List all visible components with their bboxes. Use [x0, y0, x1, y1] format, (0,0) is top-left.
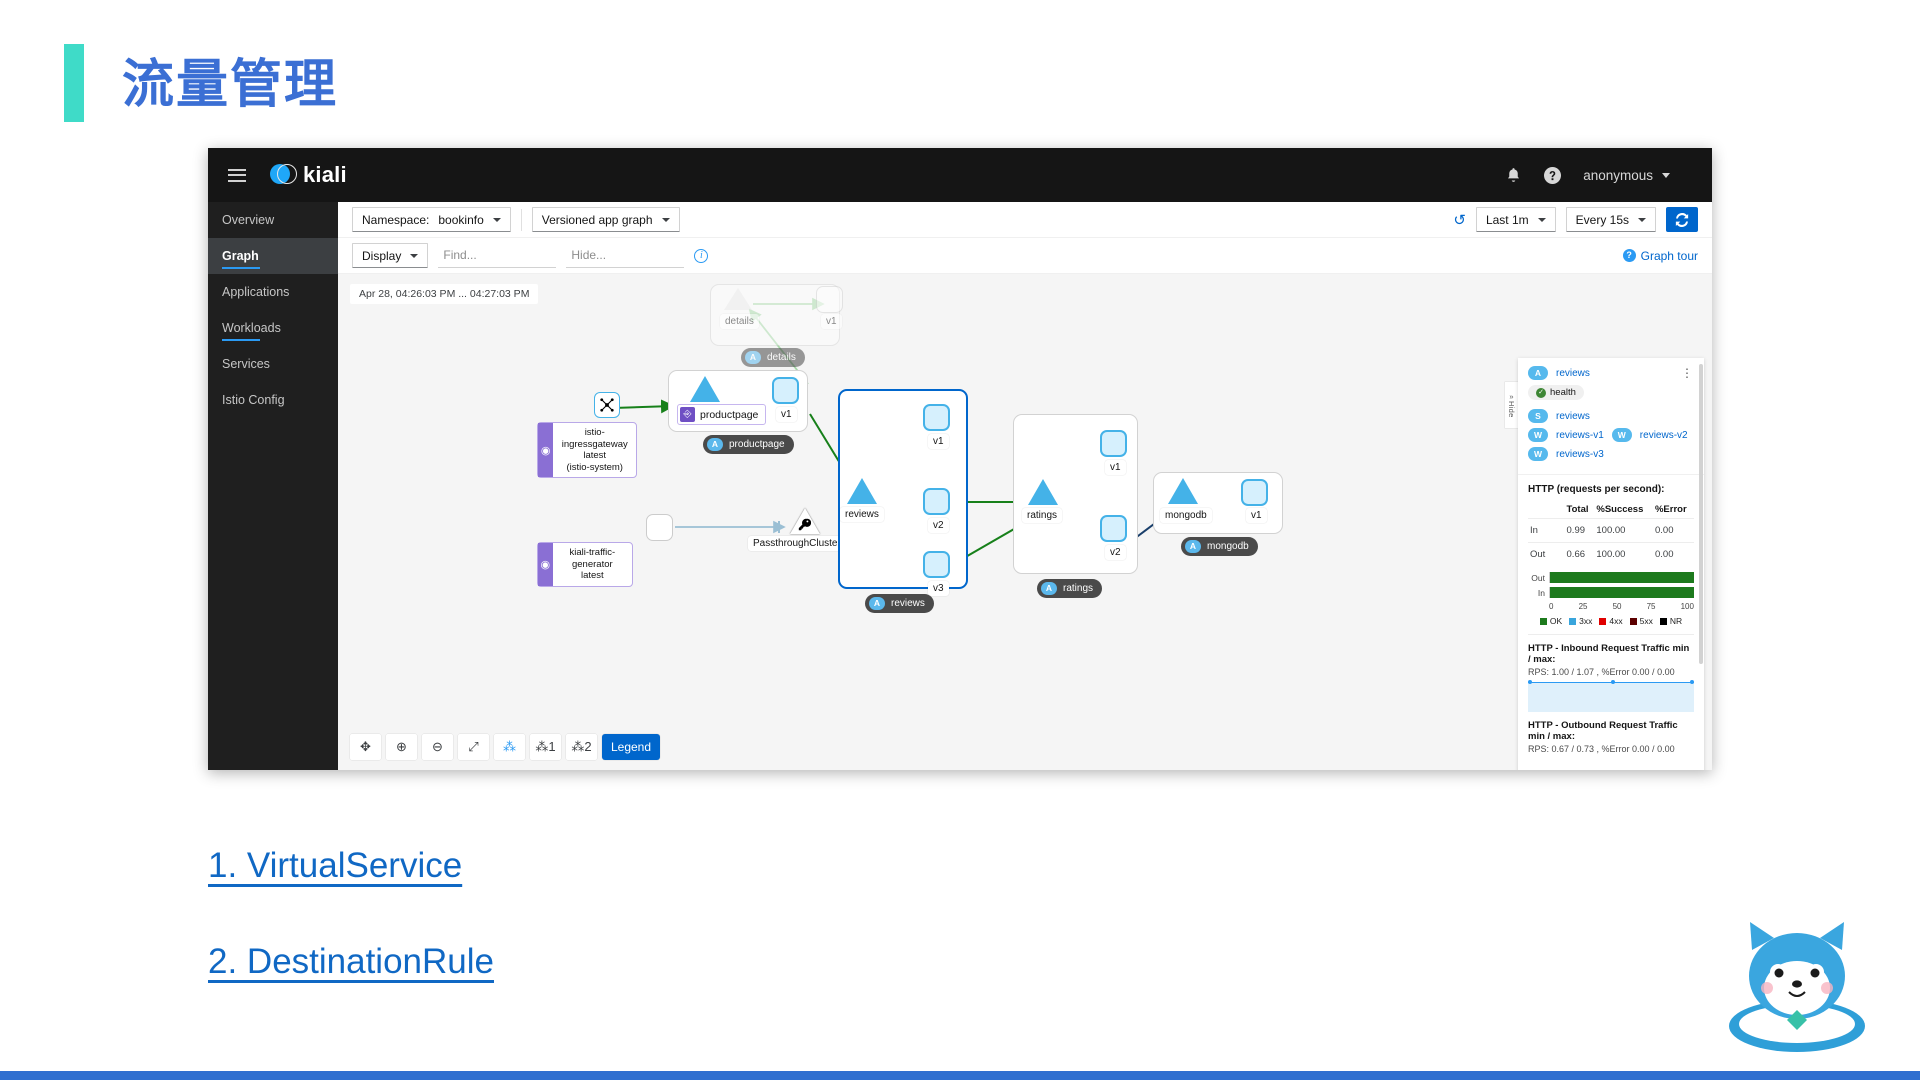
sidebar-label: Workloads [222, 321, 281, 335]
graph-bottom-toolbar: ✥ ⊕ ⊖ ⤢ ⁂ ⁂1 ⁂2 Legend [350, 734, 660, 760]
graph-display-toolbar: Display i ? Graph tour [338, 238, 1712, 274]
health-badge: ✓ health [1528, 385, 1584, 400]
bar-row-out: Out [1528, 572, 1694, 583]
graph-type-value: Versioned app graph [542, 213, 653, 227]
xtick: 50 [1613, 602, 1622, 611]
workload-badge: W [1612, 428, 1632, 442]
info-icon[interactable]: i [694, 249, 708, 263]
app-badge-name: reviews [891, 598, 925, 609]
app-badge-name: mongodb [1207, 541, 1249, 552]
content-area: Namespace: bookinfo Versioned app graph … [338, 202, 1712, 770]
cell-success: 100.00 [1594, 543, 1653, 567]
bar-row-in: In [1528, 587, 1694, 598]
workload-badge: W [1528, 447, 1548, 461]
hover-underline [222, 339, 260, 342]
fit-screen-icon[interactable]: ⤢ [458, 734, 489, 760]
side-panel-collapse-toggle[interactable]: » Hide [1505, 382, 1518, 428]
app-badge-letter: A [869, 597, 885, 610]
node-card-body: istio-ingressgateway latest (istio-syste… [553, 423, 636, 477]
footer-bar [0, 1071, 1920, 1080]
display-menu-button[interactable]: Display [352, 243, 428, 268]
graph-label-productpage-v1: v1 [776, 407, 797, 422]
chart-legend: OK 3xx 4xx 5xx [1528, 616, 1694, 626]
legend-item-5xx: 5xx [1630, 616, 1653, 626]
layout-default-icon[interactable]: ⁂ [494, 734, 525, 760]
help-circle-icon[interactable] [1544, 167, 1561, 184]
app-badge-letter: A [745, 351, 761, 364]
sidebar: Overview Graph Applications Workloads Se… [208, 202, 338, 770]
app-badge-letter: A [1185, 540, 1201, 553]
table-header-row: Total %Success %Error [1528, 501, 1694, 519]
link-destinationrule[interactable]: 2. DestinationRule [208, 942, 494, 982]
legend-item-ok: OK [1540, 616, 1562, 626]
graph-node-traffic-generator-box[interactable] [646, 514, 673, 541]
graph-node-ratings-service[interactable] [1028, 479, 1058, 505]
history-icon[interactable]: ↺ [1453, 211, 1466, 229]
chevron-down-icon [1662, 173, 1670, 178]
graph-label-ratings-service: ratings [1022, 508, 1062, 523]
graph-label-ratings-v1: v1 [1105, 460, 1126, 475]
chevron-right-icon: » [1509, 392, 1513, 401]
namespace-value: bookinfo [438, 213, 483, 227]
chevron-down-icon [662, 218, 670, 222]
node-line-3: (istio-system) [561, 462, 628, 474]
node-line-1: kiali-traffic-generator [561, 547, 624, 570]
bell-icon[interactable] [1505, 167, 1522, 184]
graph-node-mongodb-v1[interactable] [1241, 479, 1268, 506]
node-strip-icon: ◉ [538, 543, 553, 586]
masthead-actions: anonymous [1505, 167, 1712, 184]
status-bar-chart: Out In [1528, 572, 1694, 626]
graph-label-productpage-service: ⎆ productpage [677, 404, 766, 425]
sidebar-label: Graph [222, 249, 259, 263]
bar-chart-axis: 0 25 50 75 100 [1549, 602, 1694, 611]
side-panel: A reviews ⋮ ✓ health S reviews [1518, 358, 1704, 770]
xtick: 75 [1647, 602, 1656, 611]
kiali-logo[interactable]: kiali [270, 162, 347, 188]
node-line-2: latest [561, 570, 624, 582]
graph-label-passthroughcluster: PassthroughCluster [748, 536, 846, 551]
node-line-1: istio-ingressgateway [561, 427, 628, 450]
graph-node-reviews-v1[interactable] [923, 404, 950, 431]
http-table-title: HTTP (requests per second): [1528, 484, 1694, 495]
sidebar-label: Istio Config [222, 393, 285, 407]
kebab-menu-icon[interactable]: ⋮ [1681, 366, 1694, 380]
workload-link[interactable]: reviews-v3 [1556, 449, 1604, 460]
hide-input[interactable] [566, 243, 684, 268]
layout-1-icon[interactable]: ⁂1 [530, 734, 561, 760]
graph-node-productpage-v1[interactable] [772, 377, 799, 404]
title-accent-bar [64, 44, 84, 122]
workload-badge: W [1528, 428, 1548, 442]
cell-dir: Out [1528, 543, 1565, 567]
graph-canvas[interactable]: Apr 28, 04:26:03 PM ... 04:27:03 PM [338, 274, 1712, 770]
graph-label-mongodb-v1: v1 [1246, 508, 1267, 523]
kiali-mark-icon [270, 162, 296, 188]
graph-label-details-service: details [720, 314, 759, 329]
graph-node-ratings-v2[interactable] [1100, 515, 1127, 542]
sidebar-item-workloads[interactable]: Workloads [208, 310, 338, 346]
table-row: In 0.99 100.00 0.00 [1528, 519, 1694, 543]
cell-success: 100.00 [1594, 519, 1653, 543]
sidebar-label: Applications [222, 285, 289, 299]
graph-node-reviews-service[interactable] [847, 478, 877, 504]
layout-2-icon[interactable]: ⁂2 [566, 734, 597, 760]
cell-total: 0.66 [1565, 543, 1595, 567]
kiali-screenshot: kiali anonymous Overview Grap [208, 148, 1712, 770]
refresh-icon [1675, 213, 1689, 227]
sidebar-item-graph[interactable]: Graph [208, 238, 338, 274]
legend-item-nr: NR [1660, 616, 1682, 626]
side-panel-scrollbar[interactable] [1699, 364, 1703, 664]
chevron-down-icon [493, 218, 501, 222]
inbound-sparkline [1528, 682, 1694, 712]
outbound-traffic-value: RPS: 0.67 / 0.73 , %Error 0.00 / 0.00 [1528, 744, 1694, 754]
legend-item-3xx: 3xx [1569, 616, 1592, 626]
page-title: 流量管理 [122, 50, 338, 120]
active-underline [222, 267, 260, 270]
graph-node-details-v1[interactable] [816, 286, 843, 313]
hamburger-icon[interactable] [228, 165, 246, 185]
refresh-interval-selector[interactable]: Every 15s [1566, 207, 1656, 232]
chevron-down-icon [1638, 218, 1646, 222]
bar-label: Out [1528, 573, 1545, 583]
summary-workload-row-2: W reviews-v3 [1528, 447, 1694, 461]
service-badge: S [1528, 409, 1548, 423]
key-icon [798, 518, 811, 531]
graph-badge-reviews-app: A reviews [865, 594, 934, 613]
cell-error: 0.00 [1653, 543, 1694, 567]
chevron-down-icon [1538, 218, 1546, 222]
user-name: anonymous [1583, 168, 1653, 183]
bar-track [1549, 572, 1694, 583]
workload-link[interactable]: reviews-v1 [1556, 430, 1604, 441]
graph-label-reviews-service: reviews [840, 507, 884, 522]
app-badge-letter: A [1041, 582, 1057, 595]
find-input[interactable] [438, 243, 556, 268]
graph-node-ingressgateway-icon[interactable] [594, 392, 620, 418]
zoom-out-icon[interactable]: ⊖ [422, 734, 453, 760]
health-label: health [1550, 387, 1576, 398]
kiali-wordmark: kiali [303, 162, 347, 188]
legend-item-4xx: 4xx [1599, 616, 1622, 626]
xtick: 100 [1681, 602, 1694, 611]
graph-tour-label: Graph tour [1641, 249, 1698, 263]
user-menu[interactable]: anonymous [1583, 168, 1670, 183]
link-virtualservice[interactable]: 1. VirtualService [208, 846, 462, 886]
service-link[interactable]: reviews [1556, 411, 1590, 422]
outbound-traffic-title: HTTP - Outbound Request Traffic min / ma… [1528, 720, 1694, 742]
http-table: Total %Success %Error In 0.99 100.00 0.0… [1528, 501, 1694, 566]
summary-service-row: S reviews [1528, 409, 1694, 423]
graph-node-details-service[interactable] [724, 288, 752, 310]
xtick: 25 [1579, 602, 1588, 611]
graph-type-selector[interactable]: Versioned app graph [532, 207, 680, 232]
table-row: Out 0.66 100.00 0.00 [1528, 543, 1694, 567]
app-badge-name: ratings [1063, 583, 1093, 594]
cell-error: 0.00 [1653, 519, 1694, 543]
bar-track [1549, 587, 1694, 598]
chevron-down-icon [410, 254, 418, 258]
legend-button[interactable]: Legend [602, 734, 660, 760]
refresh-button[interactable] [1666, 207, 1698, 232]
graph-badge-mongodb-app: A mongodb [1181, 537, 1258, 556]
divider [521, 209, 522, 231]
graph-badge-details-app: A details [741, 348, 805, 367]
refresh-interval-value: Every 15s [1576, 213, 1629, 227]
inbound-traffic-title: HTTP - Inbound Request Traffic min / max… [1528, 643, 1694, 665]
namespace-label: Namespace: [362, 213, 429, 227]
sidebar-label: Services [222, 357, 270, 371]
time-range-selector[interactable]: Last 1m [1476, 207, 1556, 232]
col-dir [1528, 501, 1565, 519]
col-total: Total [1565, 501, 1595, 519]
sidebar-item-applications[interactable]: Applications [208, 274, 338, 310]
graph-label-reviews-v2: v2 [928, 518, 949, 533]
app-badge-name: productpage [729, 439, 785, 450]
sidebar-item-overview[interactable]: Overview [208, 202, 338, 238]
sidebar-label: Overview [222, 213, 274, 227]
graph-label-ratings-v2: v2 [1105, 545, 1126, 560]
graph-node-ratings-v1[interactable] [1100, 430, 1127, 457]
col-error: %Error [1653, 501, 1694, 519]
graph-badge-ratings-app: A ratings [1037, 579, 1102, 598]
node-line-2: latest [561, 450, 628, 462]
node-card-body: kiali-traffic-generator latest [553, 543, 632, 586]
slide-root: 流量管理 kiali anonymous [0, 0, 1920, 1080]
pan-icon[interactable]: ✥ [350, 734, 381, 760]
summary-app-row: A reviews ⋮ [1528, 366, 1694, 380]
side-panel-summary: A reviews ⋮ ✓ health S reviews [1518, 358, 1704, 474]
workload-link[interactable]: reviews-v2 [1640, 430, 1688, 441]
summary-workload-row-1: W reviews-v1 W reviews-v2 [1528, 428, 1694, 442]
col-success: %Success [1594, 501, 1653, 519]
sidebar-item-istio-config[interactable]: Istio Config [208, 382, 338, 418]
masthead: kiali anonymous [208, 148, 1712, 202]
sidebar-item-services[interactable]: Services [208, 346, 338, 382]
check-icon: ✓ [1536, 388, 1546, 398]
hide-label: Hide [1507, 401, 1516, 418]
graph-label-details-v1: v1 [821, 314, 842, 329]
node-strip-icon: ◉ [538, 423, 553, 477]
bar-fill-ok [1550, 587, 1694, 598]
question-icon: ? [1623, 249, 1636, 262]
graph-label-reviews-v1: v1 [928, 434, 949, 449]
zoom-in-icon[interactable]: ⊕ [386, 734, 417, 760]
graph-label-mongodb-service: mongodb [1160, 508, 1212, 523]
graph-node-reviews-v3[interactable] [923, 551, 950, 578]
app-badge-name: details [767, 352, 796, 363]
graph-node-kiali-traffic-generator[interactable]: ◉ kiali-traffic-generator latest [537, 542, 633, 587]
display-label: Display [362, 249, 401, 263]
xtick: 0 [1549, 602, 1553, 611]
app-badge-letter: A [707, 438, 723, 451]
http-metrics-section: HTTP (requests per second): Total %Succe… [1518, 474, 1704, 762]
graph-node-productpage-service[interactable] [690, 376, 720, 402]
graph-tour-link[interactable]: ? Graph tour [1623, 249, 1698, 263]
bar-label: In [1528, 588, 1545, 598]
app-link[interactable]: reviews [1556, 368, 1590, 379]
graph-node-reviews-v2[interactable] [923, 488, 950, 515]
time-range-value: Last 1m [1486, 213, 1529, 227]
cell-total: 0.99 [1565, 519, 1595, 543]
bar-fill-ok [1550, 572, 1694, 583]
mascot-logo [1722, 914, 1872, 1064]
virtualservice-icon: ⎆ [680, 407, 695, 422]
app-badge: A [1528, 366, 1548, 380]
cell-dir: In [1528, 519, 1565, 543]
graph-label-reviews-v3: v3 [928, 581, 949, 596]
namespace-selector[interactable]: Namespace: bookinfo [352, 207, 511, 232]
inbound-traffic-value: RPS: 1.00 / 1.07 , %Error 0.00 / 0.00 [1528, 667, 1694, 677]
graph-node-istio-ingressgateway[interactable]: ◉ istio-ingressgateway latest (istio-sys… [537, 422, 637, 478]
graph-badge-productpage-app: A productpage [703, 435, 794, 454]
graph-filter-toolbar: Namespace: bookinfo Versioned app graph … [338, 202, 1712, 238]
service-name: productpage [700, 409, 758, 421]
graph-node-mongodb-service[interactable] [1168, 478, 1198, 504]
istio-mesh-icon [600, 398, 614, 412]
